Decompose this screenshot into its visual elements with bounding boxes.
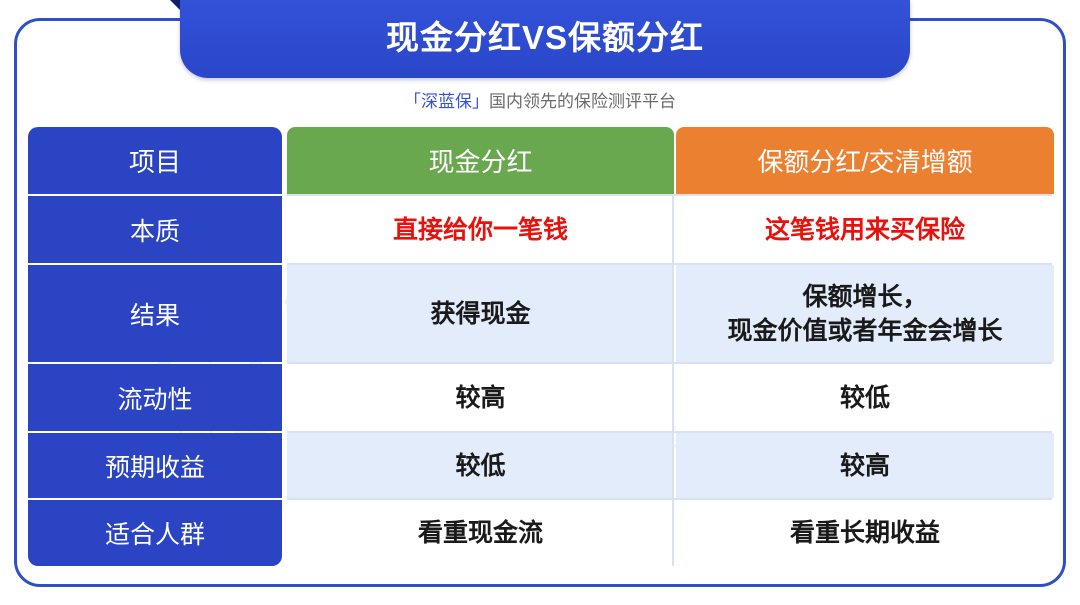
table-header-row: 项目 现金分红 保额分红/交清增额 — [28, 127, 1052, 194]
row-cell-sum: 看重长期收益 — [676, 500, 1054, 566]
row-cell-cash: 较低 — [287, 433, 674, 498]
subtitle: 「深蓝保」国内领先的保险测评平台 — [0, 88, 1080, 116]
row-cell-sum: 保额增长， 现金价值或者年金会增长 — [676, 265, 1054, 362]
cell-divider — [672, 265, 674, 362]
brand-name: 「深蓝保」 — [404, 92, 489, 111]
cell-value: 较高 — [455, 381, 505, 415]
cell-value: 较低 — [455, 449, 505, 483]
row-cell-sum: 较高 — [676, 433, 1054, 498]
row-cell-cash: 看重现金流 — [287, 500, 674, 566]
header-cell-item: 项目 — [28, 127, 282, 194]
cell-value: 较高 — [840, 449, 890, 483]
cell-value: 较低 — [840, 381, 890, 415]
row-cell-sum: 这笔钱用来买保险 — [676, 196, 1054, 263]
cell-value: 获得现金 — [430, 297, 530, 331]
cell-value-line2: 现金价值或者年金会增长 — [727, 314, 1002, 348]
cell-divider — [672, 500, 674, 566]
table-row: 本质 直接给你一笔钱 这笔钱用来买保险 — [28, 196, 1052, 263]
row-label: 流动性 — [28, 364, 282, 431]
cell-divider — [672, 433, 674, 498]
cell-divider — [672, 196, 674, 263]
title-banner: 现金分红VS保额分红 — [180, 0, 910, 78]
row-label: 适合人群 — [28, 500, 282, 566]
cell-value: 看重现金流 — [418, 516, 543, 550]
poster-canvas: 现金分红VS保额分红 「深蓝保」国内领先的保险测评平台 深蓝保 国内领先的保险测… — [0, 0, 1080, 605]
subtitle-rest: 国内领先的保险测评平台 — [489, 92, 676, 111]
row-cell-cash: 较高 — [287, 364, 674, 431]
row-label: 结果 — [28, 265, 282, 362]
table-row: 适合人群 看重现金流 看重长期收益 — [28, 500, 1052, 566]
cell-value: 这笔钱用来买保险 — [765, 213, 965, 247]
row-cell-cash: 直接给你一笔钱 — [287, 196, 674, 263]
cell-value-line1: 保额增长， — [727, 280, 1002, 314]
cell-value-multiline: 保额增长， 现金价值或者年金会增长 — [727, 280, 1002, 348]
cell-value: 看重长期收益 — [790, 516, 940, 550]
table-row: 结果 获得现金 保额增长， 现金价值或者年金会增长 — [28, 265, 1052, 362]
table-row: 流动性 较高 较低 — [28, 364, 1052, 431]
row-cell-cash: 获得现金 — [287, 265, 674, 362]
page-title: 现金分红VS保额分红 — [386, 21, 704, 58]
row-label: 本质 — [28, 196, 282, 263]
table-row: 预期收益 较低 较高 — [28, 433, 1052, 498]
header-cell-cash-dividend: 现金分红 — [287, 127, 674, 194]
header-cell-sum-dividend: 保额分红/交清增额 — [676, 127, 1054, 194]
row-label: 预期收益 — [28, 433, 282, 498]
cell-divider — [672, 364, 674, 431]
comparison-table: 项目 现金分红 保额分红/交清增额 本质 直接给你一笔钱 这笔钱用来买保险 结果 — [28, 127, 1052, 566]
cell-value: 直接给你一笔钱 — [393, 213, 568, 247]
row-cell-sum: 较低 — [676, 364, 1054, 431]
